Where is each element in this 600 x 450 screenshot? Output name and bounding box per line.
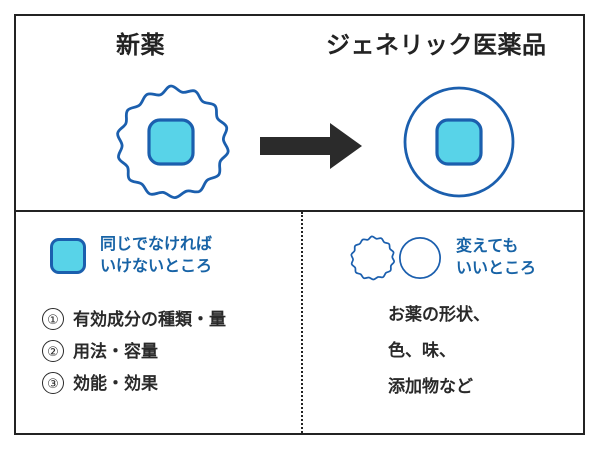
circle-outline-icon xyxy=(396,234,444,282)
right-arrow-icon xyxy=(256,118,366,174)
list-item-number: ③ xyxy=(42,372,64,394)
may-differ-legend-icons xyxy=(348,234,444,282)
list-item: お薬の形状、 xyxy=(388,306,490,323)
must-match-legend: 同じでなければ いけないところ xyxy=(50,234,212,277)
list-item: 色、味、 xyxy=(388,342,490,359)
list-item-number: ① xyxy=(42,308,64,330)
list-item: ③ 効能・効果 xyxy=(42,372,226,394)
vertical-dotted-divider xyxy=(301,212,303,433)
circle-with-rounded-square-icon xyxy=(397,80,521,204)
must-match-legend-line2: いけないところ xyxy=(100,256,212,278)
may-differ-legend: 変えても いいところ xyxy=(348,234,536,282)
list-item-label: 用法・容量 xyxy=(73,343,158,360)
starburst-outline-icon xyxy=(348,234,396,282)
may-differ-list: お薬の形状、 色、味、 添加物など xyxy=(388,306,490,414)
cyan-rounded-square-swatch xyxy=(50,238,86,274)
list-item: 添加物など xyxy=(388,378,490,395)
new-drug-title: 新薬 xyxy=(116,34,165,58)
list-item-label: 有効成分の種類・量 xyxy=(73,311,226,328)
must-match-list: ① 有効成分の種類・量 ② 用法・容量 ③ 効能・効果 xyxy=(42,308,226,404)
list-item-number: ② xyxy=(42,340,64,362)
starburst-with-rounded-square-icon xyxy=(109,80,233,204)
may-differ-legend-line2: いいところ xyxy=(456,258,536,280)
list-item-label: 効能・効果 xyxy=(73,375,158,392)
must-match-legend-text: 同じでなければ いけないところ xyxy=(100,234,212,277)
generic-drug-title: ジェネリック医薬品 xyxy=(326,34,547,58)
list-item: ② 用法・容量 xyxy=(42,340,226,362)
list-item: ① 有効成分の種類・量 xyxy=(42,308,226,330)
bottom-panel: 同じでなければ いけないところ ① 有効成分の種類・量 ② 用法・容量 ③ 効能… xyxy=(16,212,583,433)
may-differ-legend-text: 変えても いいところ xyxy=(456,236,536,279)
must-match-legend-line1: 同じでなければ xyxy=(100,234,212,256)
may-differ-legend-line1: 変えても xyxy=(456,236,536,258)
diagram-frame: 新薬 ジェネリック医薬品 xyxy=(14,14,585,435)
top-panel: 新薬 ジェネリック医薬品 xyxy=(16,16,583,212)
